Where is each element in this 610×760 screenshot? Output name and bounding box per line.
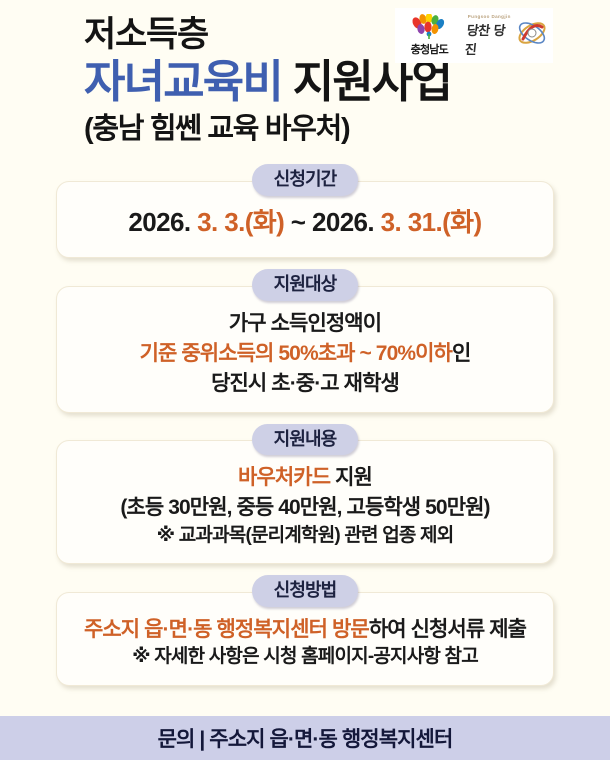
section-period-badge: 신청기간 [252, 164, 359, 196]
title-highlight-blue: 자녀교육비 [84, 56, 282, 107]
content-line-1: 바우처카드 지원 [67, 463, 543, 493]
title-line-2: 자녀교육비 지원사업 [84, 56, 610, 108]
target-line-3: 당진시 초·중·고 재학생 [69, 369, 541, 399]
footer-contact-text: 문의 | 주소지 읍·면·동 행정복지센터 [158, 723, 453, 753]
period-date-start: 3. 3.(화) [197, 207, 284, 237]
title-line-2-rest: 지원사업 [282, 56, 451, 107]
chungcheongnam-do-logo-icon [409, 14, 449, 40]
dangjin-swoosh-icon [515, 18, 549, 53]
section-method: 신청방법 주소지 읍·면·동 행정복지센터 방문하여 신청서류 제출 ※ 자세한… [56, 575, 554, 686]
content-amounts: (초등 30만원, 중등 40만원, 고등학생 50만원) [67, 493, 543, 523]
period-value-row: 2026. 3. 3.(화) ~ 2026. 3. 31.(화) [71, 206, 539, 240]
dangjin-logo-text: Pungsoo Dangjin 당찬 당진 [466, 14, 513, 58]
section-period: 신청기간 2026. 3. 3.(화) ~ 2026. 3. 31.(화) [56, 164, 554, 258]
target-line-2: 기준 중위소득의 50%초과 ~ 70%이하인 [69, 339, 541, 369]
chungcheongnam-do-logo: 충청남도 [399, 14, 460, 57]
target-line-2-suffix: 인 [452, 342, 470, 365]
section-target-card: 가구 소득인정액이 기준 중위소득의 50%초과 ~ 70%이하인 당진시 초·… [56, 286, 554, 412]
content-voucher-label: 바우처카드 [238, 466, 330, 489]
method-line-1: 주소지 읍·면·동 행정복지센터 방문하여 신청서류 제출 [67, 615, 543, 645]
period-year-start: 2026. [128, 207, 197, 237]
target-income-range: 기준 중위소득의 50%초과 ~ 70%이하 [140, 342, 452, 365]
period-date-end: 3. 31.(화) [381, 207, 482, 237]
section-target-badge: 지원대상 [252, 269, 359, 301]
poster-footer: 문의 | 주소지 읍·면·동 행정복지센터 [0, 716, 610, 760]
section-content-card: 바우처카드 지원 (초등 30만원, 중등 40만원, 고등학생 50만원) ※… [56, 440, 554, 564]
section-method-badge: 신청방법 [252, 575, 359, 607]
logo-lockup: 충청남도 Pungsoo Dangjin 당찬 당진 [395, 8, 553, 63]
sections-container: 신청기간 2026. 3. 3.(화) ~ 2026. 3. 31.(화) 지원… [0, 164, 610, 716]
dangjin-logo-tagline: Pungsoo Dangjin [468, 14, 511, 19]
chungcheongnam-do-logo-label: 충청남도 [411, 41, 448, 57]
content-note: ※ 교과과목(문리계학원) 관련 업종 제외 [67, 523, 543, 550]
method-note: ※ 자세한 사항은 시청 홈페이지-공지사항 참고 [67, 644, 543, 671]
method-line-1-suffix: 하여 신청서류 제출 [369, 618, 526, 641]
section-content-pill-row: 지원내용 [56, 424, 554, 456]
poster-header: 저소득층 자녀교육비 지원사업 (충남 힘쎈 교육 바우처) [0, 0, 610, 164]
section-content: 지원내용 바우처카드 지원 (초등 30만원, 중등 40만원, 고등학생 50… [56, 424, 554, 564]
section-target: 지원대상 가구 소득인정액이 기준 중위소득의 50%초과 ~ 70%이하인 당… [56, 269, 554, 412]
dangjin-logo-label: 당찬 당진 [464, 20, 515, 58]
section-target-pill-row: 지원대상 [56, 269, 554, 301]
poster-root: 저소득층 자녀교육비 지원사업 (충남 힘쎈 교육 바우처) [0, 0, 610, 760]
section-period-pill-row: 신청기간 [56, 164, 554, 196]
dangjin-logo: Pungsoo Dangjin 당찬 당진 [466, 14, 549, 58]
content-line-1-suffix: 지원 [330, 466, 372, 489]
title-subtitle: (충남 힘쎈 교육 바우처) [84, 112, 610, 147]
section-method-pill-row: 신청방법 [56, 575, 554, 607]
method-visit-location: 주소지 읍·면·동 행정복지센터 방문 [84, 618, 369, 641]
target-line-1: 가구 소득인정액이 [69, 309, 541, 339]
section-content-badge: 지원내용 [252, 424, 359, 456]
period-separator: ~ 2026. [284, 207, 381, 237]
